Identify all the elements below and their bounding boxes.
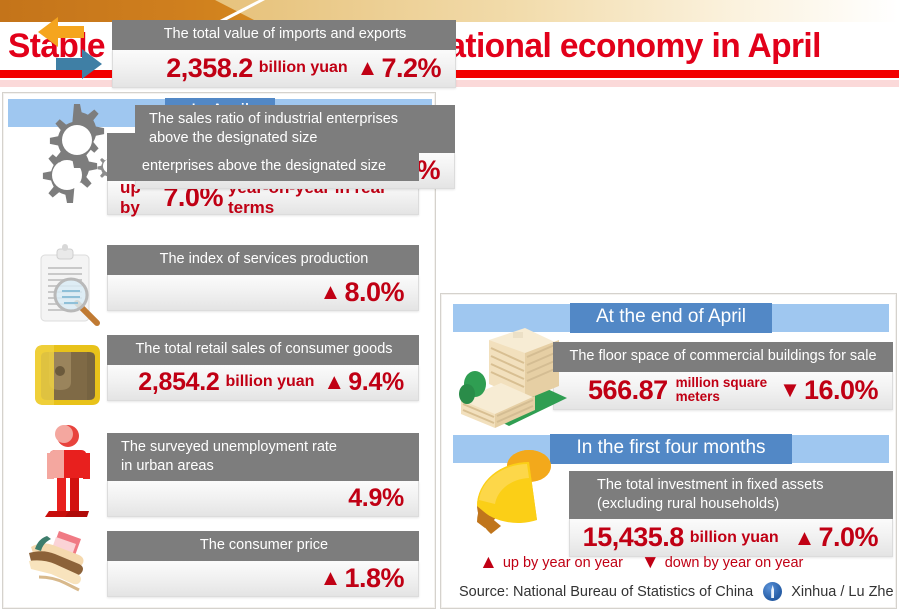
source-line: Source: National Bureau of Statistics of… [459, 582, 894, 601]
stat-value: ▲ 1.8% [107, 561, 419, 597]
stat-label: The consumer price [107, 531, 419, 561]
stat-value: ▲ 8.0% [107, 275, 419, 311]
stat-label-line-1: The total investment in fixed assets [597, 476, 881, 495]
stat-value-unit: billion yuan [226, 373, 315, 391]
stat-value-percent: 16.0% [804, 375, 878, 406]
trend-down-icon: ▼ [779, 379, 801, 401]
stat-services-production: The index of services production ▲ 8.0% [107, 245, 419, 311]
stat-label-line-2: in urban areas [121, 457, 407, 476]
building-icon [455, 324, 571, 428]
stat-label: The index of services production [107, 245, 419, 275]
trend-up-icon: ▲ [320, 281, 342, 303]
stat-value-unit-line-1: million square [676, 376, 768, 390]
stat-value-number: 1.8% [344, 563, 404, 594]
stat-label-line-2: above the designated size [149, 129, 443, 148]
stat-value-percent: 7.0% [818, 522, 878, 553]
stat-value-percent: 9.4% [348, 368, 404, 397]
stat-value-unit: million square meters [676, 376, 768, 404]
stat-imports-exports: The total value of imports and exports 2… [112, 20, 456, 88]
stat-label: The sales ratio of industrial enterprise… [135, 105, 455, 153]
clipboard-magnifier-icon [27, 241, 107, 329]
stat-value-number: 15,435.8 [583, 522, 684, 553]
decorative-top-bar [0, 0, 899, 22]
credit-text: Xinhua / Lu Zhe [791, 584, 893, 600]
stat-label-line-1: The sales ratio of industrial enterprise… [149, 110, 443, 129]
stat-value-percent: 7.2% [381, 53, 441, 84]
legend: ▲ up by year on year ▼ down by year on y… [479, 552, 803, 574]
stat-label: The surveyed unemployment rate in urban … [107, 433, 419, 481]
stat-value: 4.9% [107, 481, 419, 517]
person-icon [37, 423, 99, 521]
stat-value-unit: billion yuan [690, 529, 779, 547]
legend-up-label: up by year on year [503, 555, 623, 571]
stat-label-line-2: (excluding rural households) [597, 495, 881, 514]
trend-up-icon: ▲ [357, 57, 379, 79]
exchange-arrows-icon [30, 8, 116, 94]
stat-value: 566.87 million square meters ▼ 16.0% [553, 372, 893, 410]
stat-consumer-price: The consumer price ▲ 1.8% [107, 531, 419, 597]
stat-label-line-1: The surveyed unemployment rate [121, 438, 407, 457]
stat-value-number: 4.9% [348, 484, 404, 513]
stat-value-number: 8.0% [344, 277, 404, 308]
stat-value-number: 566.87 [588, 375, 668, 406]
stat-label: The total investment in fixed assets (ex… [569, 471, 893, 519]
wallet-icon [25, 331, 107, 413]
stat-value-unit-line-2: meters [676, 390, 768, 404]
right-bottom-panel: At the end of April The floor space of c… [440, 293, 897, 609]
pie-chart-icon [457, 444, 581, 554]
trend-up-icon: ▲ [794, 527, 816, 549]
stat-label: The floor space of commercial buildings … [553, 342, 893, 372]
stat-commercial-floor-space: The floor space of commercial buildings … [553, 342, 893, 410]
section-title-first-four-months: In the first four months [550, 434, 791, 464]
legend-down-label: down by year on year [665, 555, 804, 571]
stat-value-number: 2,358.2 [166, 53, 253, 84]
stat-label-line-2: enterprises above the designated size [121, 157, 407, 176]
stat-value-unit: billion yuan [259, 59, 348, 77]
xinhua-logo-icon [763, 582, 782, 601]
source-text: Source: National Bureau of Statistics of… [459, 584, 753, 600]
stat-retail-sales: The total retail sales of consumer goods… [107, 335, 419, 401]
trend-up-icon: ▲ [320, 567, 342, 589]
stat-value-number: 2,854.2 [138, 368, 219, 397]
stat-fixed-asset-investment: The total investment in fixed assets (ex… [569, 471, 893, 557]
trend-up-icon: ▲ [323, 371, 345, 393]
legend-up-icon: ▲ [479, 552, 498, 574]
stat-label: The total value of imports and exports [112, 20, 456, 50]
hands-money-icon [23, 525, 111, 605]
section-title-end-of-april: At the end of April [570, 303, 772, 333]
stat-value: 2,358.2 billion yuan ▲ 7.2% [112, 50, 456, 88]
legend-down-icon: ▼ [641, 552, 660, 574]
stat-label: The total retail sales of consumer goods [107, 335, 419, 365]
stat-value: 2,854.2 billion yuan ▲ 9.4% [107, 365, 419, 401]
stat-unemployment-rate: The surveyed unemployment rate in urban … [107, 433, 419, 517]
